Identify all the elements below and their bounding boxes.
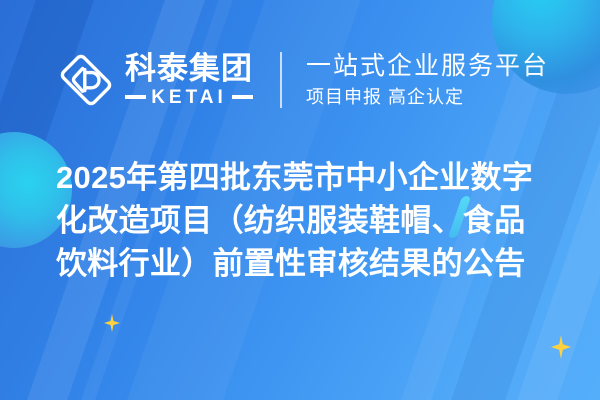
header-divider bbox=[280, 52, 282, 108]
four-point-star-icon bbox=[551, 335, 571, 359]
company-logo-wordmark: 科泰集团 KETAI bbox=[125, 53, 253, 107]
title-line: 化改造项目（纺织服装鞋帽、食品 bbox=[56, 199, 562, 242]
banner-header: 科泰集团 KETAI 一站式企业服务平台 项目申报 高企认定 bbox=[0, 44, 600, 116]
four-point-star-icon bbox=[104, 314, 120, 332]
logo-dash-right bbox=[232, 95, 253, 99]
company-logo[interactable]: 科泰集团 KETAI bbox=[58, 52, 253, 108]
logo-dash-left bbox=[125, 95, 146, 99]
company-name-cn: 科泰集团 bbox=[125, 53, 253, 85]
announcement-title: 2025年第四批东莞市中小企业数字 化改造项目（纺织服装鞋帽、食品 饮料行业）前… bbox=[56, 156, 562, 285]
slogan-sub: 项目申报 高企认定 bbox=[306, 87, 549, 109]
announcement-banner: 科泰集团 KETAI 一站式企业服务平台 项目申报 高企认定 2025年第四批东… bbox=[0, 0, 600, 400]
slogan-block: 一站式企业服务平台 项目申报 高企认定 bbox=[306, 52, 549, 109]
company-name-en-row: KETAI bbox=[125, 88, 253, 107]
title-line: 饮料行业）前置性审核结果的公告 bbox=[56, 242, 562, 285]
title-line: 2025年第四批东莞市中小企业数字 bbox=[56, 156, 562, 199]
company-name-en: KETAI bbox=[151, 88, 227, 107]
slogan-main: 一站式企业服务平台 bbox=[306, 52, 549, 81]
kp-monogram-diamond-icon bbox=[58, 52, 114, 108]
